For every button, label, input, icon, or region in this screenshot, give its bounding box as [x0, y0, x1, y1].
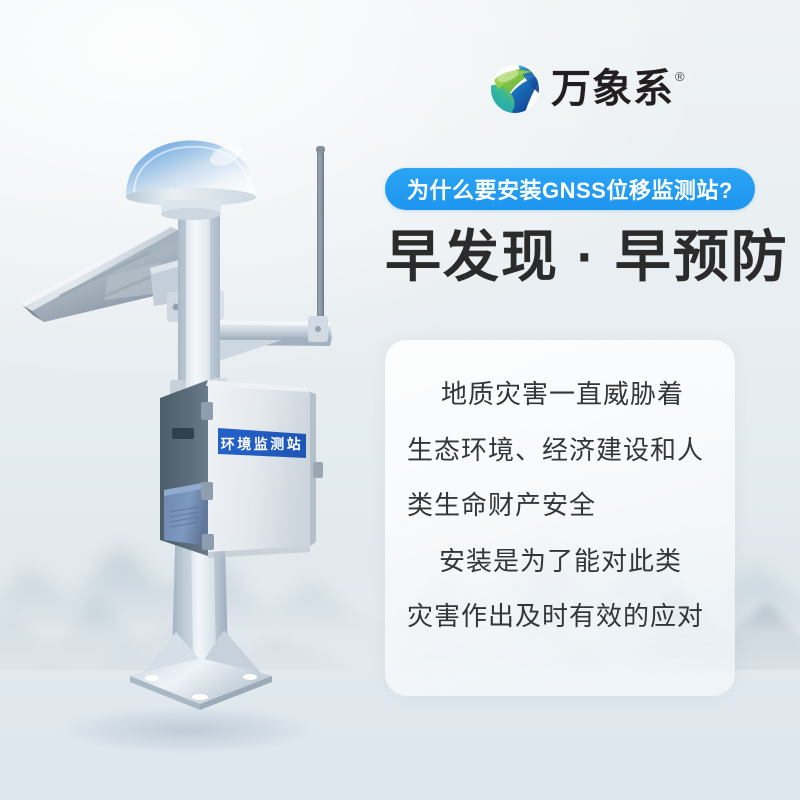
- equipment-cabinet: 环境监测站: [160, 380, 323, 558]
- question-pill-badge[interactable]: 为什么要安装GNSS位移监测站?: [385, 168, 755, 210]
- description-panel: 地质灾害一直威胁着 生态环境、经济建设和人 类生命财产安全 安装是为了能对此类 …: [385, 340, 735, 696]
- monitoring-station-illustration: 环境监测站: [0, 0, 400, 800]
- page-title: 早发现 · 早预防: [385, 226, 789, 289]
- content-column: 万象系 ® 为什么要安装GNSS位移监测站? 早发现 · 早预防 地质灾害一直威…: [368, 0, 800, 800]
- poster-root: 环境监测站: [0, 0, 800, 800]
- gnss-antenna-dome: [126, 140, 256, 220]
- cabinet-label-text: 环境监测站: [221, 436, 304, 453]
- globe-swirl-logo-icon: [488, 62, 542, 116]
- brand-name: 万象系: [551, 69, 674, 109]
- station-ground-shadow: [58, 706, 318, 754]
- description-line-2: 生态环境、经济建设和人: [407, 436, 713, 465]
- whip-antenna: [316, 146, 325, 332]
- registered-mark: ®: [675, 70, 685, 83]
- description-line-4: 安装是为了能对此类: [407, 547, 713, 576]
- solar-panel: [22, 224, 192, 322]
- description-line-5: 灾害作出及时有效的应对: [407, 602, 713, 631]
- description-line-1: 地质灾害一直威胁着: [407, 380, 713, 409]
- brand-logo: 万象系 ®: [488, 62, 685, 116]
- brand-wordmark: 万象系 ®: [551, 69, 685, 109]
- description-line-3: 类生命财产安全: [407, 491, 713, 520]
- mounting-pole-upper: [178, 205, 220, 405]
